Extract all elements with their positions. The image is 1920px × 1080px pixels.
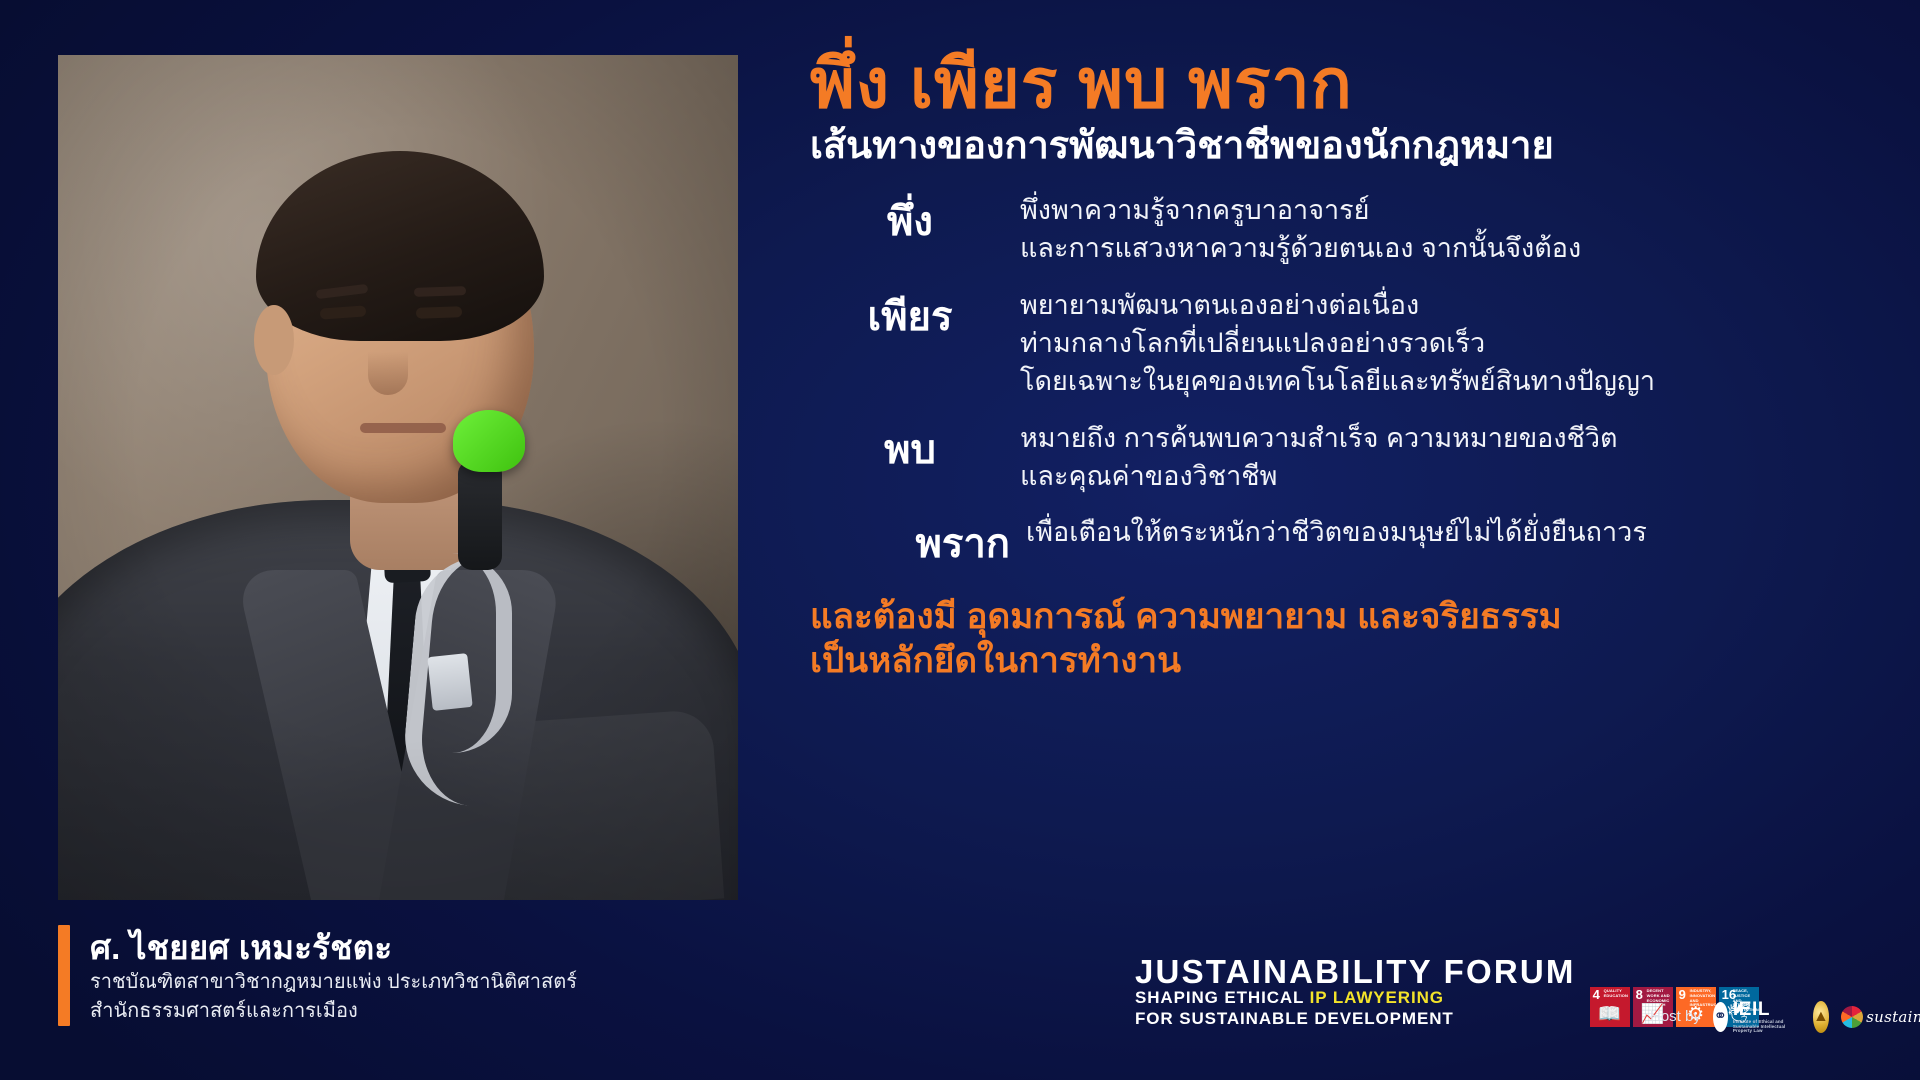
portrait-block	[58, 55, 738, 900]
ieil-abbreviation: IEIL	[1733, 1000, 1801, 1019]
definition-line: พยายามพัฒนาตนเองอย่างต่อเนื่อง	[1020, 286, 1870, 324]
sdg-caption: QUALITY EDUCATION	[1604, 989, 1628, 998]
definition-line: พึ่งพาความรู้จากครูบาอาจารย์	[1020, 191, 1870, 229]
definition-entry-1: พึ่ง พึ่งพาความรู้จากครูบาอาจารย์ และการ…	[810, 191, 1870, 268]
definition-key-1: พึ่ง	[810, 191, 1010, 247]
definition-line: โดยเฉพาะในยุคของเทคโนโลยีและทรัพย์สินทาง…	[1020, 362, 1870, 400]
speaker-accent-bar	[58, 925, 70, 1026]
host-logos: Host by ⚭ IEIL Institute of Ethical and …	[1650, 1000, 1920, 1034]
definition-key-4: พราก	[810, 513, 1016, 569]
ear-shape	[254, 305, 294, 375]
page-title: พึ่ง เพียร พบ พราก	[810, 48, 1870, 121]
definition-key-2: เพียร	[810, 286, 1010, 342]
brand-tagline-prefix: SHAPING ETHICAL	[1135, 988, 1310, 1007]
ieil-globe-icon: ⚭	[1713, 1002, 1728, 1032]
speaker-affiliation-line-2: สำนักธรรมศาสตร์และการเมือง	[90, 997, 577, 1026]
university-seal-icon[interactable]: ▲	[1813, 1001, 1829, 1033]
sustainability-wordmark: sustainability	[1866, 1008, 1920, 1026]
brand-tagline-line-1: SHAPING ETHICAL IP LAWYERING	[1135, 988, 1576, 1009]
ieil-logo-text: IEIL Institute of Ethical and Sustainabl…	[1733, 1000, 1801, 1034]
sdg-number: 8	[1636, 988, 1643, 1001]
brand-text-group: JUSTAINABILITY FORUM SHAPING ETHICAL IP …	[1135, 955, 1576, 1029]
sdg-number: 4	[1593, 988, 1600, 1001]
closing-line-1: และต้องมี อุดมการณ์ ความพยายาม และจริยธร…	[810, 595, 1870, 639]
microphone-gooseneck-lower	[426, 553, 512, 753]
ieil-full-name: Institute of Ethical and Sustainable Int…	[1733, 1020, 1801, 1034]
mouth-shape	[360, 423, 446, 433]
microphone-windscreen-icon	[453, 410, 525, 472]
definition-line: เพื่อเตือนให้ตระหนักว่าชีวิตของมนุษย์ไม่…	[1026, 513, 1870, 551]
closing-line-2: เป็นหลักยึดในการทำงาน	[810, 639, 1870, 683]
sustainability-logo[interactable]: sustainability	[1841, 1006, 1920, 1028]
definition-entry-2: เพียร พยายามพัฒนาตนเองอย่างต่อเนื่อง ท่า…	[810, 286, 1870, 401]
closing-statement: และต้องมี อุดมการณ์ ความพยายาม และจริยธร…	[810, 595, 1870, 683]
eyebrow-right	[414, 286, 466, 297]
definition-body-2: พยายามพัฒนาตนเองอย่างต่อเนื่อง ท่ามกลางโ…	[1010, 286, 1870, 401]
definition-line: และการแสวงหาความรู้ด้วยตนเอง จากนั้นจึงต…	[1020, 229, 1870, 267]
definition-line: ท่ามกลางโลกที่เปลี่ยนแปลงอย่างรวดเร็ว	[1020, 324, 1870, 362]
definition-key-3: พบ	[810, 419, 1010, 475]
speaker-text-group: ศ. ไชยยศ เหมะรัชตะ ราชบัณฑิตสาขาวิชากฎหม…	[90, 925, 577, 1026]
presentation-slide: ศ. ไชยยศ เหมะรัชตะ ราชบัณฑิตสาขาวิชากฎหม…	[0, 0, 1920, 1080]
microphone-body	[458, 460, 502, 570]
definition-body-4: เพื่อเตือนให้ตระหนักว่าชีวิตของมนุษย์ไม่…	[1016, 513, 1870, 551]
page-subtitle: เส้นทางของการพัฒนาวิชาชีพของนักกฎหมาย	[810, 125, 1870, 169]
brand-tagline-accent: IP LAWYERING	[1310, 988, 1444, 1007]
brand-title: JUSTAINABILITY FORUM	[1135, 955, 1576, 988]
host-by-label: Host by	[1650, 1008, 1701, 1025]
definition-line: หมายถึง การค้นพบความสำเร็จ ความหมายของชี…	[1020, 419, 1870, 457]
definition-line: และคุณค่าของวิชาชีพ	[1020, 457, 1870, 495]
sdg-color-wheel-icon	[1841, 1006, 1863, 1028]
book-icon: 📖	[1598, 1005, 1622, 1024]
brand-tagline-line-2: FOR SUSTAINABLE DEVELOPMENT	[1135, 1009, 1576, 1030]
nose-shape	[368, 323, 408, 395]
speaker-credit: ศ. ไชยยศ เหมะรัชตะ ราชบัณฑิตสาขาวิชากฎหม…	[58, 925, 818, 1026]
speaker-name: ศ. ไชยยศ เหมะรัชตะ	[90, 927, 577, 968]
definition-body-1: พึ่งพาความรู้จากครูบาอาจารย์ และการแสวงห…	[1010, 191, 1870, 268]
speaker-photo	[58, 55, 738, 900]
definition-entry-3: พบ หมายถึง การค้นพบความสำเร็จ ความหมายขอ…	[810, 419, 1870, 496]
definition-body-3: หมายถึง การค้นพบความสำเร็จ ความหมายของชี…	[1010, 419, 1870, 496]
sdg-icon-4: 4 QUALITY EDUCATION 📖	[1590, 987, 1630, 1027]
speaker-affiliation-line-1: ราชบัณฑิตสาขาวิชากฎหมายแพ่ง ประเภทวิชานิ…	[90, 968, 577, 997]
name-badge	[427, 653, 472, 711]
content-column: พึ่ง เพียร พบ พราก เส้นทางของการพัฒนาวิช…	[810, 48, 1870, 683]
definition-entry-4: พราก เพื่อเตือนให้ตระหนักว่าชีวิตของมนุษ…	[810, 513, 1870, 569]
ieil-logo[interactable]: ⚭ IEIL Institute of Ethical and Sustaina…	[1713, 1000, 1801, 1034]
eye-right	[416, 306, 462, 319]
